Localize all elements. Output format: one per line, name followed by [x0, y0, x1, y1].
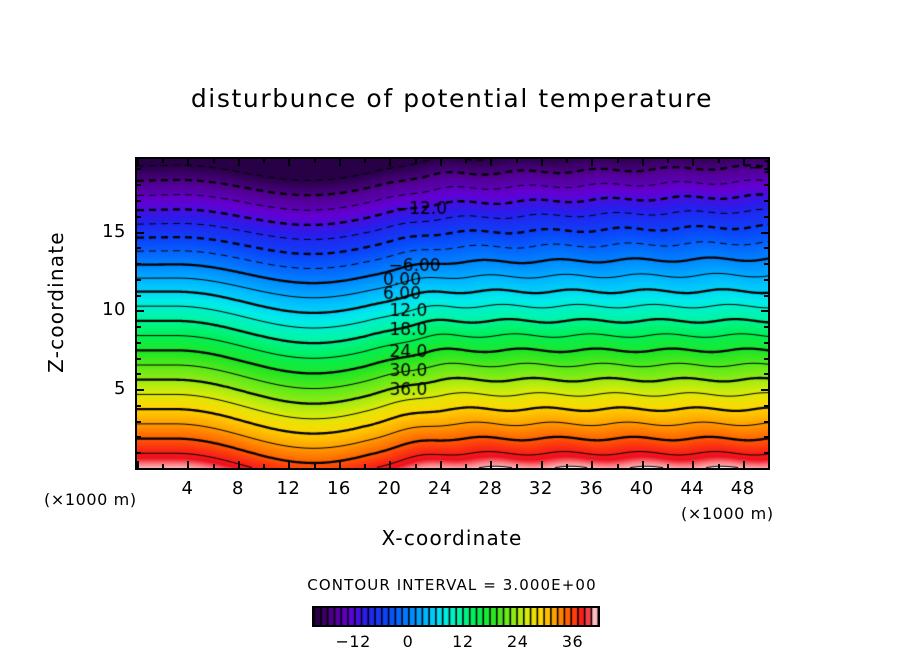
- axis-tick: [566, 464, 568, 468]
- axis-tick: [764, 263, 768, 265]
- y-axis-title: Z-coordinate: [44, 212, 68, 392]
- axis-tick: [667, 464, 669, 468]
- y-tick-label: 5: [86, 378, 126, 399]
- axis-tick: [137, 263, 141, 265]
- x-tick-label: 44: [672, 478, 712, 499]
- colorbar-tick-label: 0: [383, 632, 433, 651]
- axis-tick: [137, 247, 141, 249]
- page-title: disturbunce of potential temperature: [0, 84, 904, 113]
- axis-tick: [692, 461, 694, 468]
- axis-tick: [764, 216, 768, 218]
- axis-tick: [137, 342, 141, 344]
- axis-tick: [415, 464, 417, 468]
- y-tick-label: 15: [86, 221, 126, 242]
- x-tick-label: 16: [319, 478, 359, 499]
- axis-tick: [764, 358, 768, 360]
- axis-tick: [768, 464, 770, 468]
- colorbar-tick-label: 36: [548, 632, 598, 651]
- axis-tick: [213, 159, 215, 163]
- axis-tick: [764, 436, 768, 438]
- x-tick-label: 36: [571, 478, 611, 499]
- axis-tick: [692, 159, 694, 166]
- axis-tick: [137, 358, 141, 360]
- axis-tick: [761, 310, 768, 312]
- axis-tick: [137, 200, 141, 202]
- axis-tick: [288, 461, 290, 468]
- x-tick-label: 48: [723, 478, 763, 499]
- x-tick-label: 32: [521, 478, 561, 499]
- axis-tick: [137, 405, 141, 407]
- axis-tick: [541, 159, 543, 166]
- axis-tick: [490, 461, 492, 468]
- axis-tick: [389, 159, 391, 166]
- axis-tick: [389, 461, 391, 468]
- z-axis-units: (×1000 m): [44, 490, 137, 509]
- axis-tick: [137, 373, 141, 375]
- axis-tick: [364, 159, 366, 163]
- y-tick-label: 10: [86, 299, 126, 320]
- colorbar: [312, 606, 600, 627]
- x-tick-label: 40: [622, 478, 662, 499]
- axis-tick: [137, 461, 139, 468]
- axis-tick: [761, 389, 768, 391]
- axis-tick: [764, 405, 768, 407]
- colorbar-tick-label: 12: [438, 632, 488, 651]
- axis-tick: [339, 461, 341, 468]
- contour-interval-label: CONTOUR INTERVAL = 3.000E+00: [0, 576, 904, 594]
- axis-tick: [137, 168, 141, 170]
- axis-tick: [617, 464, 619, 468]
- x-tick-label: 8: [218, 478, 258, 499]
- axis-tick: [137, 279, 141, 281]
- axis-tick: [591, 159, 593, 166]
- axis-tick: [743, 159, 745, 166]
- axis-tick: [764, 326, 768, 328]
- axis-tick: [516, 159, 518, 163]
- contour-field-canvas: [137, 159, 768, 468]
- contour-plot-area: [135, 157, 770, 470]
- axis-tick: [137, 326, 141, 328]
- axis-tick: [667, 159, 669, 163]
- axis-tick: [465, 464, 467, 468]
- axis-tick: [566, 159, 568, 163]
- axis-tick: [764, 468, 768, 470]
- axis-tick: [642, 159, 644, 166]
- axis-tick: [364, 464, 366, 468]
- axis-tick: [137, 421, 141, 423]
- axis-tick: [541, 461, 543, 468]
- axis-tick: [137, 184, 141, 186]
- axis-tick: [440, 159, 442, 166]
- axis-tick: [162, 464, 164, 468]
- axis-tick: [465, 159, 467, 163]
- axis-tick: [761, 232, 768, 234]
- axis-tick: [743, 461, 745, 468]
- axis-tick: [415, 159, 417, 163]
- axis-tick: [617, 159, 619, 163]
- axis-tick: [137, 389, 144, 391]
- axis-tick: [768, 159, 770, 163]
- axis-tick: [718, 159, 720, 163]
- axis-tick: [516, 464, 518, 468]
- axis-tick: [137, 436, 141, 438]
- axis-tick: [440, 461, 442, 468]
- axis-tick: [187, 461, 189, 468]
- colorbar-tick-label: −12: [328, 632, 378, 651]
- colorbar-canvas: [314, 608, 598, 625]
- axis-tick: [764, 247, 768, 249]
- x-tick-label: 12: [268, 478, 308, 499]
- x-tick-label: 20: [369, 478, 409, 499]
- axis-tick: [137, 159, 139, 166]
- axis-tick: [213, 464, 215, 468]
- axis-tick: [238, 159, 240, 166]
- axis-tick: [764, 184, 768, 186]
- axis-tick: [718, 464, 720, 468]
- axis-tick: [764, 295, 768, 297]
- axis-tick: [642, 461, 644, 468]
- x-axis-units: (×1000 m): [681, 504, 774, 523]
- axis-tick: [764, 342, 768, 344]
- axis-tick: [263, 159, 265, 163]
- axis-tick: [764, 421, 768, 423]
- axis-tick: [137, 468, 141, 470]
- axis-tick: [591, 461, 593, 468]
- axis-tick: [137, 295, 141, 297]
- axis-tick: [764, 279, 768, 281]
- x-tick-label: 24: [420, 478, 460, 499]
- axis-tick: [187, 159, 189, 166]
- axis-tick: [263, 464, 265, 468]
- axis-tick: [314, 159, 316, 163]
- x-tick-label: 28: [470, 478, 510, 499]
- axis-tick: [764, 452, 768, 454]
- x-tick-label: 4: [167, 478, 207, 499]
- axis-tick: [137, 310, 144, 312]
- axis-tick: [137, 232, 144, 234]
- axis-tick: [288, 159, 290, 166]
- axis-tick: [764, 373, 768, 375]
- axis-tick: [764, 200, 768, 202]
- axis-tick: [162, 159, 164, 163]
- axis-tick: [137, 452, 141, 454]
- axis-tick: [137, 216, 141, 218]
- axis-tick: [339, 159, 341, 166]
- axis-tick: [764, 168, 768, 170]
- axis-tick: [314, 464, 316, 468]
- axis-tick: [238, 461, 240, 468]
- axis-tick: [490, 159, 492, 166]
- colorbar-tick-label: 24: [493, 632, 543, 651]
- x-axis-title: X-coordinate: [0, 526, 904, 550]
